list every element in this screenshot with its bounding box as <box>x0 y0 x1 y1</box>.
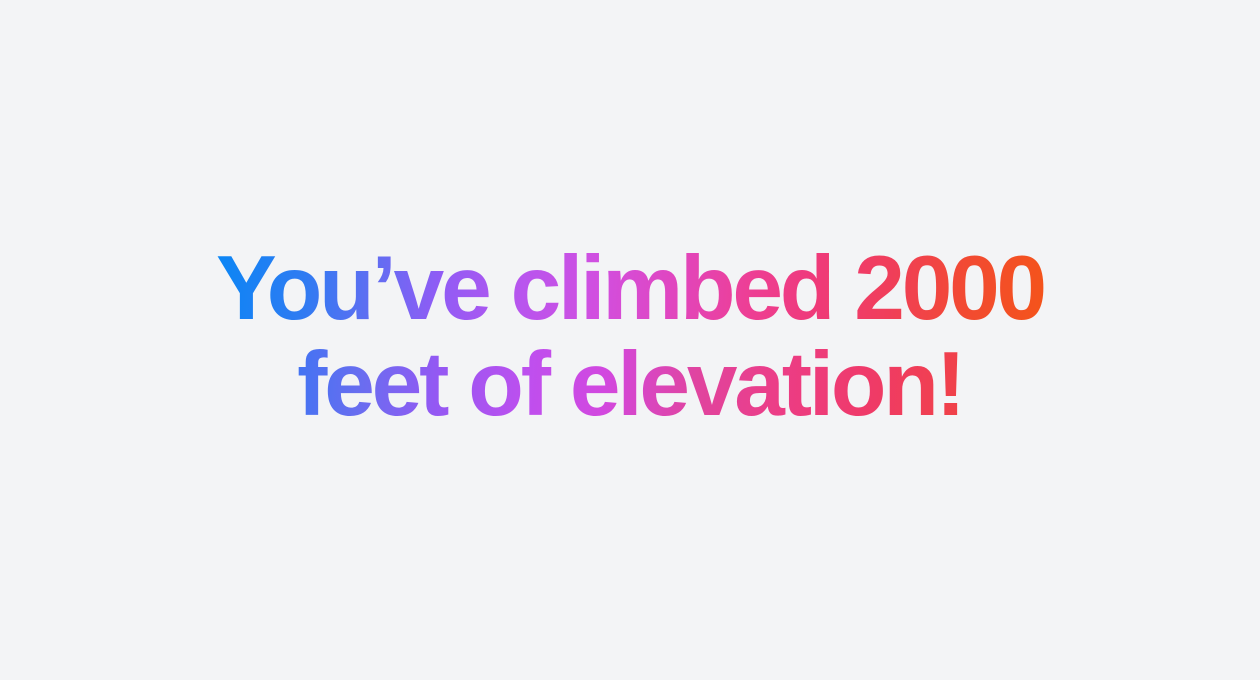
achievement-card: You’ve climbed 2000 feet of elevation! <box>0 0 1260 680</box>
achievement-headline-line-1: You’ve climbed 2000 <box>216 241 1044 337</box>
achievement-headline-line-2: feet of elevation! <box>216 337 1044 433</box>
achievement-headline: You’ve climbed 2000 feet of elevation! <box>216 241 1044 440</box>
